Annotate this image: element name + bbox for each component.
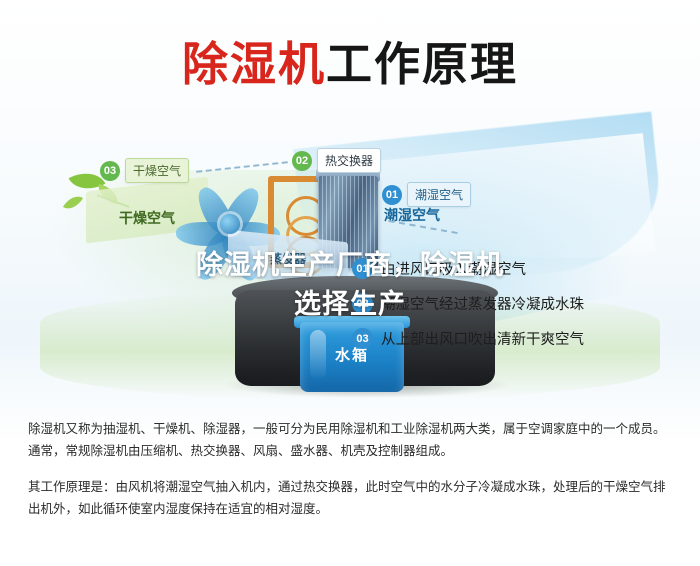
dry-air-callout: 03 干燥空气	[100, 158, 189, 183]
step-item: 01 由进风口吸入潮湿空气	[352, 258, 672, 279]
heat-exchanger-chip-label: 热交换器	[317, 148, 381, 173]
dry-air-badge: 03	[100, 161, 120, 181]
humid-air-badge: 01	[382, 185, 402, 205]
title-part-red: 除湿机	[182, 38, 326, 90]
page-title: 除湿机工作原理	[0, 28, 700, 94]
title-part-dark: 工作原理	[326, 38, 518, 90]
dry-air-text: 干燥空气	[104, 208, 190, 228]
step-number: 02	[352, 293, 373, 314]
step-item: 03 从上部出风口吹出清新干爽空气	[352, 328, 672, 349]
step-number: 01	[352, 258, 373, 279]
evaporator-text: 蒸发器	[240, 250, 336, 267]
dry-air-chip-label: 干燥空气	[125, 158, 189, 183]
airflow-arrow-left	[196, 161, 288, 173]
step-text: 由进风口吸入潮湿空气	[381, 258, 526, 279]
infographic-page: 除湿机工作原理 03 干燥空气 干燥空气 02 热交换器 01 潮湿空气	[0, 0, 700, 566]
description-paragraph-2: 其工作原理是：由风机将潮湿空气抽入机内，通过热交换器，此时空气中的水分子冷凝成水…	[28, 476, 676, 520]
step-item: 02 潮湿空气经过蒸发器冷凝成水珠	[352, 293, 672, 314]
step-text: 从上部出风口吹出清新干爽空气	[381, 328, 584, 349]
humid-air-callout: 01 潮湿空气	[382, 182, 471, 207]
step-number: 03	[352, 328, 373, 349]
heat-exchanger-callout: 02 热交换器	[292, 148, 381, 173]
leaf-icon	[63, 191, 83, 213]
steps-list: 01 由进风口吸入潮湿空气 02 潮湿空气经过蒸发器冷凝成水珠 03 从上部出风…	[352, 258, 672, 363]
heat-exchanger-badge: 02	[292, 151, 312, 171]
description-paragraph-1: 除湿机又称为抽湿机、干燥机、除湿器，一般可分为民用除湿机和工业除湿机两大类，属于…	[28, 418, 676, 462]
humid-air-chip-label: 潮湿空气	[407, 182, 471, 207]
fan-hub	[220, 214, 240, 234]
description-block: 除湿机又称为抽湿机、干燥机、除湿器，一般可分为民用除湿机和工业除湿机两大类，属于…	[28, 418, 676, 520]
step-text: 潮湿空气经过蒸发器冷凝成水珠	[381, 293, 584, 314]
